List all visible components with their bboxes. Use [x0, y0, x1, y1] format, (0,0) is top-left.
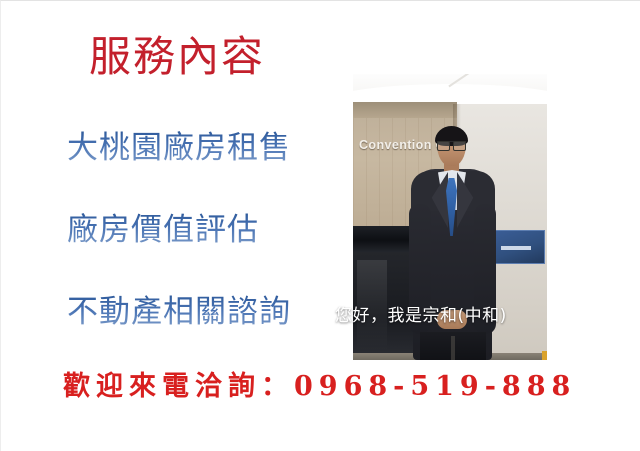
photo-floor-accent: [542, 351, 547, 360]
photo-blue-sign-bar: [501, 246, 531, 250]
photo-caption: 您好，我是宗和(中和): [335, 306, 507, 326]
glasses-lens-right: [453, 141, 466, 151]
presentation-slide: 服務內容 大桃園廠房租售 廠房價值評估 不動產相關諮詢 Convention C…: [0, 0, 640, 451]
page-title: 服務內容: [89, 33, 265, 80]
glasses-lens-left: [437, 141, 450, 151]
service-item-3: 不動產相關諮詢: [67, 295, 291, 329]
contact-phone-line: 歡迎來電洽詢：0968-519-888: [63, 372, 576, 402]
service-item-1: 大桃園廠房租售: [67, 131, 291, 165]
person-leg-gap: [451, 336, 455, 360]
photo-wood-wall-top: [353, 102, 457, 118]
service-item-2: 廠房價值評估: [67, 213, 259, 247]
